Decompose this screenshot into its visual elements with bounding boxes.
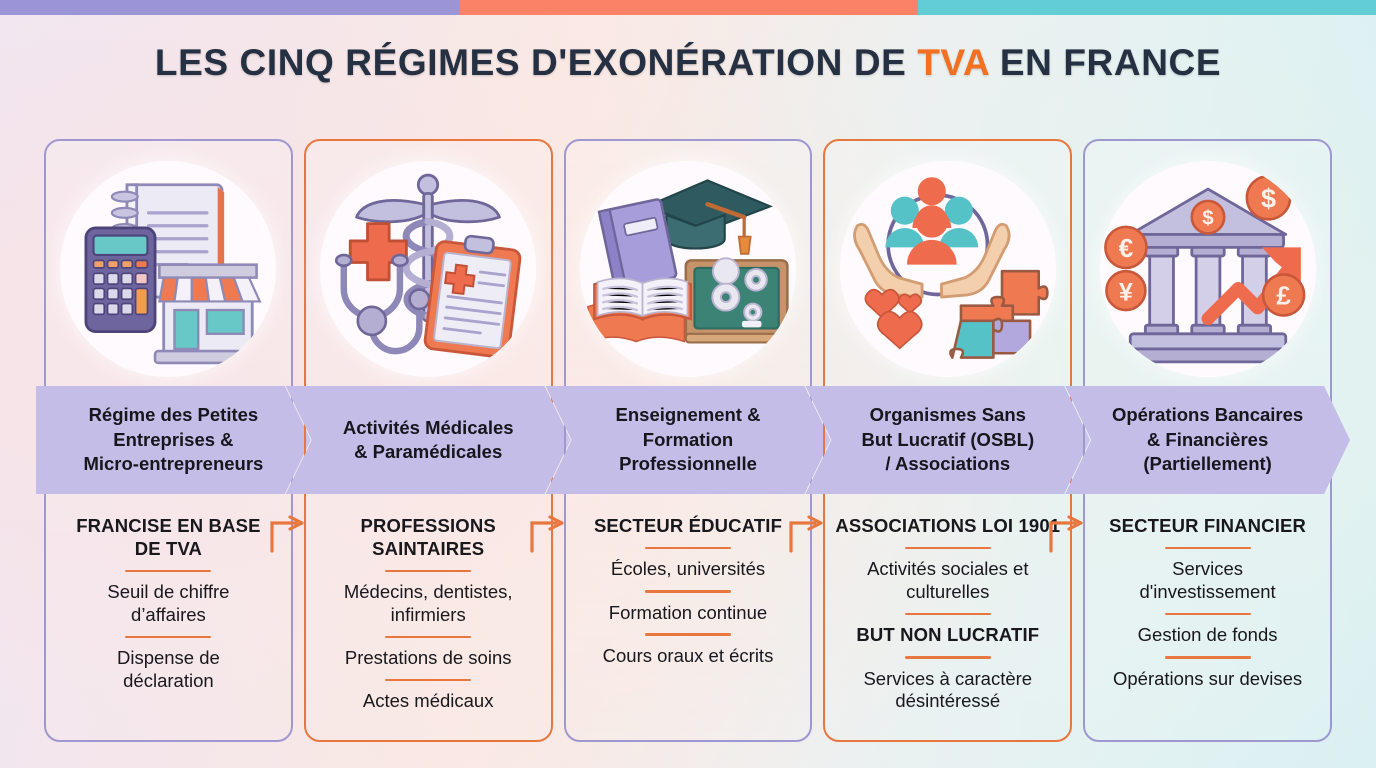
regime-banner-activites-medicales[interactable]: Activités Médicales & Paramédicales	[286, 386, 571, 494]
detail-divider	[385, 679, 471, 682]
regime-detail-list-osbl-associations: ASSOCIATIONS LOI 1901Activités sociales …	[829, 507, 1066, 724]
detail-divider	[125, 636, 211, 639]
svg-text:€: €	[1118, 235, 1132, 263]
detail-item: Services d'investissement	[1089, 558, 1326, 604]
regime-column-enseignement-formation[interactable]: Enseignement & Formation Professionnelle…	[564, 139, 813, 742]
detail-divider	[1165, 547, 1251, 550]
regime-banner-osbl-associations[interactable]: Organismes Sans But Lucratif (OSBL) / As…	[805, 386, 1090, 494]
coral-segment	[460, 0, 918, 15]
regime-column-petites-entreprises[interactable]: Régime des Petites Entreprises & Micro-e…	[44, 139, 293, 742]
detail-divider	[1165, 613, 1251, 616]
svg-text:¥: ¥	[1119, 279, 1133, 306]
regime-banner-operations-bancaires[interactable]: Opérations Bancaires & Financières (Part…	[1065, 386, 1350, 494]
detail-divider	[385, 636, 471, 639]
detail-heading: ASSOCIATIONS LOI 1901	[829, 515, 1066, 538]
top-color-bar	[0, 0, 1376, 15]
regime-banner-label: Opérations Bancaires & Financières (Part…	[1092, 403, 1323, 476]
purple-segment	[0, 0, 460, 15]
svg-text:$: $	[1202, 207, 1214, 230]
regime-detail-list-petites-entreprises: FRANCISE EN BASE DE TVASeuil de chiffre …	[50, 507, 287, 724]
regime-banner-enseignement-formation[interactable]: Enseignement & Formation Professionnelle	[546, 386, 831, 494]
title-accent-tva: TVA	[917, 42, 989, 83]
detail-item: Dispense de déclaration	[50, 647, 287, 693]
detail-heading: BUT NON LUCRATIF	[829, 624, 1066, 647]
regime-banner-label: Organismes Sans But Lucratif (OSBL) / As…	[841, 403, 1054, 476]
teal-segment	[918, 0, 1376, 15]
detail-divider	[905, 547, 991, 550]
regime-banner-label: Régime des Petites Entreprises & Micro-e…	[63, 403, 283, 476]
detail-heading: PROFESSIONS SAINTAIRES	[310, 515, 547, 561]
detail-heading: FRANCISE EN BASE DE TVA	[50, 515, 287, 561]
detail-divider	[385, 570, 471, 573]
detail-divider	[905, 613, 991, 616]
svg-text:$: $	[1261, 183, 1276, 213]
detail-item: Opérations sur devises	[1089, 668, 1326, 691]
detail-item: Formation continue	[570, 602, 807, 625]
detail-item: Écoles, universités	[570, 558, 807, 581]
bank-coins-growth-arrow-icon: $ $ € ¥ £	[1100, 161, 1316, 377]
detail-divider	[1165, 656, 1251, 659]
regime-banner-petites-entreprises[interactable]: Régime des Petites Entreprises & Micro-e…	[36, 386, 311, 494]
regime-detail-list-enseignement-formation: SECTEUR ÉDUCATIFÉcoles, universitésForma…	[570, 507, 807, 724]
detail-divider	[125, 570, 211, 573]
regime-banner-label: Enseignement & Formation Professionnelle	[596, 403, 781, 476]
graduation-cap-books-chalkboard-icon	[580, 161, 796, 377]
page-title: LES CINQ RÉGIMES D'EXONÉRATION DE TVA EN…	[0, 42, 1376, 84]
regimes-columns: Régime des Petites Entreprises & Micro-e…	[44, 139, 1332, 742]
regime-detail-list-operations-bancaires: SECTEUR FINANCIERServices d'investisseme…	[1089, 507, 1326, 724]
title-part-before: LES CINQ RÉGIMES D'EXONÉRATION DE	[155, 42, 917, 83]
detail-item: Cours oraux et écrits	[570, 645, 807, 668]
regime-detail-list-activites-medicales: PROFESSIONS SAINTAIRESMédecins, dentiste…	[310, 507, 547, 724]
detail-divider	[645, 590, 731, 593]
detail-item: Médecins, dentistes, infirmiers	[310, 581, 547, 627]
regime-column-operations-bancaires[interactable]: $ $ € ¥ £ Opérations Bancaires & Financi…	[1083, 139, 1332, 742]
detail-item: Services à caractère désintéressé	[829, 668, 1066, 714]
detail-item: Seuil de chiffre d’affaires	[50, 581, 287, 627]
calculator-notebook-shop-icon	[60, 161, 276, 377]
caduceus-stethoscope-clipboard-icon	[320, 161, 536, 377]
regime-column-osbl-associations[interactable]: Organismes Sans But Lucratif (OSBL) / As…	[823, 139, 1072, 742]
hands-community-hearts-puzzle-icon	[840, 161, 1056, 377]
regime-column-activites-medicales[interactable]: Activités Médicales & ParamédicalesPROFE…	[304, 139, 553, 742]
detail-item: Actes médicaux	[310, 690, 547, 713]
detail-divider	[645, 547, 731, 550]
detail-item: Gestion de fonds	[1089, 624, 1326, 647]
detail-divider	[645, 633, 731, 636]
title-part-after: EN FRANCE	[989, 42, 1221, 83]
regime-banner-label: Activités Médicales & Paramédicales	[323, 416, 534, 465]
detail-heading: SECTEUR ÉDUCATIF	[570, 515, 807, 538]
detail-divider	[905, 656, 991, 659]
detail-item: Prestations de soins	[310, 647, 547, 670]
detail-heading: SECTEUR FINANCIER	[1089, 515, 1326, 538]
detail-item: Activités sociales et culturelles	[829, 558, 1066, 604]
svg-text:£: £	[1276, 283, 1291, 311]
